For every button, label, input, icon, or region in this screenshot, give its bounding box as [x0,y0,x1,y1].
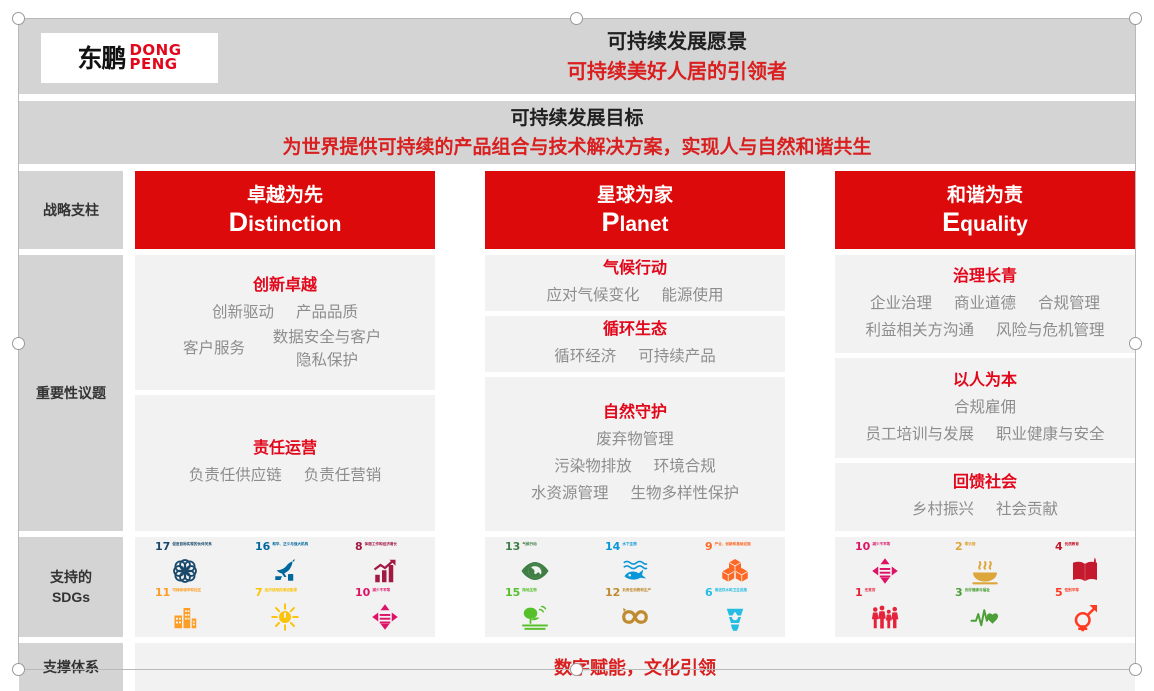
topic-item: 产品品质 [296,299,358,326]
topic-item: 生物多样性保护 [631,480,740,507]
sdg-label: 体面工作和经济增长 [365,541,397,547]
resize-handle-middle-left[interactable] [12,337,25,350]
logo-en-line2: PENG [129,55,177,73]
topic-card: 循环生态循环经济可持续产品 [485,316,785,372]
sdg-heading: 5性别平等 [1055,587,1115,600]
rowlabel-sdgs-line2: SDGs [52,589,90,605]
logo-chinese-text: 东鹏 [77,46,125,71]
sdg-number: 4 [1055,541,1063,552]
vision-statement: 可持续美好人居的引领者 [219,57,1135,87]
pillar-name-rest: quality [960,213,1028,236]
pillar-header-distinction: 卓越为先Distinction [135,171,435,249]
sdg-heading: 9产业、创新和基础设施 [705,541,765,554]
sdg-heading: 17促进目标实现的伙伴关系 [155,541,215,554]
pillar-header-planet: 星球为家Planet [485,171,785,249]
topic-item-row: 合规雇佣 [847,394,1123,421]
sdg-label: 减少不平等 [372,587,390,593]
pillar-header-equality: 和谐为责Equality [835,171,1135,249]
topic-item-row: 利益相关方沟通风险与危机管理 [847,317,1123,344]
pillar-english-name: Planet [601,209,668,238]
sdg-heading: 12负责任消费和生产 [605,587,665,600]
sdg-number: 13 [505,541,520,552]
sdg-inner: 6清洁饮水和卫生设施 [705,587,765,633]
sdg-label: 清洁饮水和卫生设施 [715,587,747,593]
sdg-number: 14 [605,541,620,552]
sdg-goal-13[interactable]: 13气候行动 [485,541,585,587]
sdg-number: 8 [355,541,363,552]
sdg-goal-15[interactable]: 15陆地生物 [485,587,585,633]
resize-handle-bottom-center[interactable] [570,663,583,676]
sdg-icon-gender-icon [1055,601,1115,633]
sdg-goal-9[interactable]: 9产业、创新和基础设施 [685,541,785,587]
pillar-initial-letter: E [942,207,960,237]
sdg-goal-4[interactable]: 4优质教育 [1035,541,1135,587]
topic-item: 能源使用 [662,282,724,309]
sdg-icon-poverty-icon [855,601,915,633]
topic-item: 员工培训与发展 [865,421,974,448]
sdg-heading: 7经济适用的清洁能源 [255,587,315,600]
sdg-heading: 1无贫穷 [855,587,915,600]
support-system-band: 数字赋能，文化引领 [135,643,1135,691]
sdg-label: 水下生物 [622,541,636,547]
sdg-heading: 4优质教育 [1055,541,1115,554]
goal-statement: 为世界提供可持续的产品组合与技术解决方案，实现人与自然和谐共生 [19,133,1135,162]
sdg-grid: 10减少不平等2零饥饿4优质教育1无贫穷3良好健康与福祉5性别平等 [835,541,1135,633]
sdg-goal-16[interactable]: 16和平、正义与强大机构 [235,541,335,587]
sdg-icon-growth-icon [355,555,415,587]
rowlabel-support-system-text: 支撑体系 [43,657,99,677]
sdg-goal-14[interactable]: 14水下生物 [585,541,685,587]
sdg-goal-17[interactable]: 17促进目标实现的伙伴关系 [135,541,235,587]
topic-item: 创新驱动 [212,299,274,326]
sdg-label: 促进目标实现的伙伴关系 [172,541,212,547]
sdg-number: 12 [605,587,620,598]
topic-card-title: 循环生态 [603,318,667,341]
topic-item: 可持续产品 [638,343,716,370]
sdg-icon-city-icon [155,601,215,633]
sdg-goal-6[interactable]: 6清洁饮水和卫生设施 [685,587,785,633]
sdg-icon-consumption-icon [605,601,665,633]
topic-item: 数据安全与客户隐私保护 [267,326,387,372]
pillar-english-name: Distinction [229,209,342,238]
sdg-label: 性别平等 [1065,587,1079,593]
sdg-icon-equality-icon [355,601,415,633]
sdg-icon-sun-icon [255,601,315,633]
sdg-number: 11 [155,587,170,598]
pillar-initial-letter: D [229,207,249,237]
topic-card-title: 气候行动 [603,257,667,280]
sdg-goal-1[interactable]: 1无贫穷 [835,587,935,633]
sdg-label: 减少不平等 [872,541,890,547]
sdg-icon-partnership-icon [155,555,215,587]
topic-item: 客户服务 [183,335,245,362]
sdg-goal-5[interactable]: 5性别平等 [1035,587,1135,633]
sdg-label: 零饥饿 [965,541,976,547]
sdg-inner: 12负责任消费和生产 [605,587,665,633]
rowlabel-strategic-pillars: 战略支柱 [19,171,123,249]
topic-item: 水资源管理 [531,480,609,507]
sdg-grid: 13气候行动14水下生物9产业、创新和基础设施15陆地生物12负责任消费和生产6… [485,541,785,633]
sdg-band: 17促进目标实现的伙伴关系16和平、正义与强大机构8体面工作和经济增长11可持续… [135,537,435,637]
pillar-english-name: Equality [942,209,1028,238]
sdg-goal-12[interactable]: 12负责任消费和生产 [585,587,685,633]
sdg-inner: 4优质教育 [1055,541,1115,587]
sdg-inner: 8体面工作和经济增长 [355,541,415,587]
pillar-name-rest: lanet [620,213,669,236]
sdg-label: 经济适用的清洁能源 [265,587,297,593]
sdg-goal-7[interactable]: 7经济适用的清洁能源 [235,587,335,633]
sdg-heading: 16和平、正义与强大机构 [255,541,315,554]
sdg-number: 15 [505,587,520,598]
rowlabel-supported-sdgs: 支持的 SDGs [19,537,123,637]
sdg-inner: 15陆地生物 [505,587,565,633]
sdg-goal-8[interactable]: 8体面工作和经济增长 [335,541,435,587]
resize-handle-bottom-right[interactable] [1129,663,1142,676]
goal-band: 可持续发展目标 为世界提供可持续的产品组合与技术解决方案，实现人与自然和谐共生 [19,101,1135,164]
sdg-inner: 5性别平等 [1055,587,1115,633]
topic-item: 废弃物管理 [596,426,674,453]
sdg-number: 17 [155,541,170,552]
rowlabel-material-topics: 重要性议题 [19,255,123,531]
sdg-inner: 2零饥饿 [955,541,1015,587]
rowlabel-material-topics-text: 重要性议题 [36,383,106,403]
topic-card: 创新卓越创新驱动产品品质客户服务数据安全与客户隐私保护 [135,255,435,390]
topic-item: 乡村振兴 [912,496,974,523]
topic-card-title: 创新卓越 [253,274,317,297]
topic-card: 以人为本合规雇佣员工培训与发展职业健康与安全 [835,358,1135,458]
topic-card: 回馈社会乡村振兴社会贡献 [835,463,1135,531]
sdg-label: 产业、创新和基础设施 [715,541,751,547]
pillar-chinese-name: 和谐为责 [947,183,1023,209]
sdg-heading: 13气候行动 [505,541,565,554]
sdg-heading: 2零饥饿 [955,541,1015,554]
sdg-inner: 9产业、创新和基础设施 [705,541,765,587]
sdg-number: 6 [705,587,713,598]
sdg-number: 5 [1055,587,1063,598]
sdg-inner: 3良好健康与福祉 [955,587,1015,633]
sdg-number: 10 [355,587,370,598]
pillar-name-rest: istinction [248,213,341,236]
topic-item: 合规管理 [1038,290,1100,317]
sdg-heading: 10减少不平等 [355,587,415,600]
resize-handle-top-center[interactable] [570,12,583,25]
sdg-number: 2 [955,541,963,552]
topic-item: 企业治理 [870,290,932,317]
sdg-label: 陆地生物 [522,587,536,593]
topic-item: 应对气候变化 [546,282,639,309]
sdg-heading: 15陆地生物 [505,587,565,600]
topic-item-row: 污染物排放环境合规 [497,453,773,480]
slide-canvas: 东鹏 DONG PENG 可持续发展愿景 可持续美好人居的引领者 可持续发展目标… [19,19,1135,669]
topic-item-row: 企业治理商业道德合规管理 [847,290,1123,317]
rowlabel-supported-sdgs-text: 支持的 SDGs [50,567,92,607]
topic-card-title: 治理长青 [953,265,1017,288]
topic-item: 合规雇佣 [954,394,1016,421]
topic-card-title: 责任运营 [253,437,317,460]
topic-item: 利益相关方沟通 [865,317,974,344]
topic-item-row: 循环经济可持续产品 [497,343,773,370]
sdg-icon-clean-water-icon [705,601,765,633]
sdg-icon-health-icon [955,601,1015,633]
sdg-label: 气候行动 [522,541,536,547]
sdg-goal-10[interactable]: 10减少不平等 [335,587,435,633]
resize-handle-top-left[interactable] [12,12,25,25]
topic-item-row: 应对气候变化能源使用 [497,282,773,309]
vision-heading: 可持续发展愿景 [219,27,1135,57]
sdg-heading: 8体面工作和经济增长 [355,541,415,554]
topic-item: 社会贡献 [996,496,1058,523]
resize-handle-top-right[interactable] [1129,12,1142,25]
topic-item-row: 创新驱动产品品质 [147,299,423,326]
topic-card: 自然守护废弃物管理污染物排放环境合规水资源管理生物多样性保护 [485,377,785,531]
sdg-heading: 6清洁饮水和卫生设施 [705,587,765,600]
sdg-icon-hunger-icon [955,555,1015,587]
topic-item-row: 员工培训与发展职业健康与安全 [847,421,1123,448]
sdg-inner: 7经济适用的清洁能源 [255,587,315,633]
sdg-number: 10 [855,541,870,552]
topic-item-row: 客户服务数据安全与客户隐私保护 [147,326,423,372]
sdg-number: 3 [955,587,963,598]
rowlabel-support-system: 支撑体系 [19,643,123,691]
sdg-icon-climate-icon [505,555,565,587]
sdg-icon-education-icon [1055,555,1115,587]
topic-item: 循环经济 [554,343,616,370]
sdg-goal-11[interactable]: 11可持续城市和社区 [135,587,235,633]
sdg-inner: 14水下生物 [605,541,665,587]
sdg-inner: 17促进目标实现的伙伴关系 [155,541,215,587]
sdg-heading: 3良好健康与福祉 [955,587,1015,600]
sdg-goal-2[interactable]: 2零饥饿 [935,541,1035,587]
sdg-icon-land-life-icon [505,601,565,633]
sdg-number: 7 [255,587,263,598]
sdg-inner: 13气候行动 [505,541,565,587]
topic-item: 负责任供应链 [189,462,282,489]
rowlabel-strategic-pillars-text: 战略支柱 [43,200,99,220]
topic-item: 环境合规 [654,453,716,480]
sdg-heading: 11可持续城市和社区 [155,587,215,600]
sdg-number: 1 [855,587,863,598]
sdg-number: 9 [705,541,713,552]
vision-text-block: 可持续发展愿景 可持续美好人居的引领者 [219,27,1135,87]
sdg-icon-peace-icon [255,555,315,587]
sdg-band: 10减少不平等2零饥饿4优质教育1无贫穷3良好健康与福祉5性别平等 [835,537,1135,637]
resize-handle-middle-right[interactable] [1129,337,1142,350]
sdg-label: 良好健康与福祉 [965,587,990,593]
topic-card-title: 回馈社会 [953,471,1017,494]
topic-card-title: 自然守护 [603,401,667,424]
logo-english-text: DONG PENG [129,44,181,72]
sdg-heading: 10减少不平等 [855,541,915,554]
sdg-heading: 14水下生物 [605,541,665,554]
dongpeng-logo: 东鹏 DONG PENG [41,33,218,83]
rowlabel-sdgs-line1: 支持的 [50,569,92,585]
sdg-inner: 16和平、正义与强大机构 [255,541,315,587]
pillar-initial-letter: P [601,207,619,237]
sdg-icon-industry-icon [705,555,765,587]
sdg-goal-3[interactable]: 3良好健康与福祉 [935,587,1035,633]
sdg-goal-10[interactable]: 10减少不平等 [835,541,935,587]
topic-card: 治理长青企业治理商业道德合规管理利益相关方沟通风险与危机管理 [835,255,1135,353]
sdg-label: 负责任消费和生产 [622,587,651,593]
topic-item: 商业道德 [954,290,1016,317]
topic-item-row: 乡村振兴社会贡献 [847,496,1123,523]
sdg-label: 可持续城市和社区 [172,587,201,593]
topic-card-title: 以人为本 [953,369,1017,392]
topic-item: 风险与危机管理 [996,317,1105,344]
sdg-inner: 11可持续城市和社区 [155,587,215,633]
topic-card: 责任运营负责任供应链负责任营销 [135,395,435,531]
sdg-label: 优质教育 [1065,541,1079,547]
pillar-chinese-name: 星球为家 [597,183,673,209]
goal-heading: 可持续发展目标 [19,101,1135,133]
sdg-inner: 10减少不平等 [855,541,915,587]
topic-item-row: 水资源管理生物多样性保护 [497,480,773,507]
sdg-icon-water-life-icon [605,555,665,587]
sdg-number: 16 [255,541,270,552]
topic-item-row: 负责任供应链负责任营销 [147,462,423,489]
topic-card: 气候行动应对气候变化能源使用 [485,255,785,311]
topic-item: 负责任营销 [304,462,382,489]
sdg-icon-equality-icon [855,555,915,587]
vision-band: 东鹏 DONG PENG 可持续发展愿景 可持续美好人居的引领者 [19,19,1135,94]
sdg-label: 和平、正义与强大机构 [272,541,308,547]
topic-item: 污染物排放 [554,453,632,480]
resize-handle-bottom-left[interactable] [12,663,25,676]
sdg-label: 无贫穷 [865,587,876,593]
sdg-inner: 10减少不平等 [355,587,415,633]
sdg-band: 13气候行动14水下生物9产业、创新和基础设施15陆地生物12负责任消费和生产6… [485,537,785,637]
sdg-grid: 17促进目标实现的伙伴关系16和平、正义与强大机构8体面工作和经济增长11可持续… [135,541,435,633]
topic-item-row: 废弃物管理 [497,426,773,453]
sdg-inner: 1无贫穷 [855,587,915,633]
pillar-chinese-name: 卓越为先 [247,183,323,209]
topic-item: 职业健康与安全 [996,421,1105,448]
